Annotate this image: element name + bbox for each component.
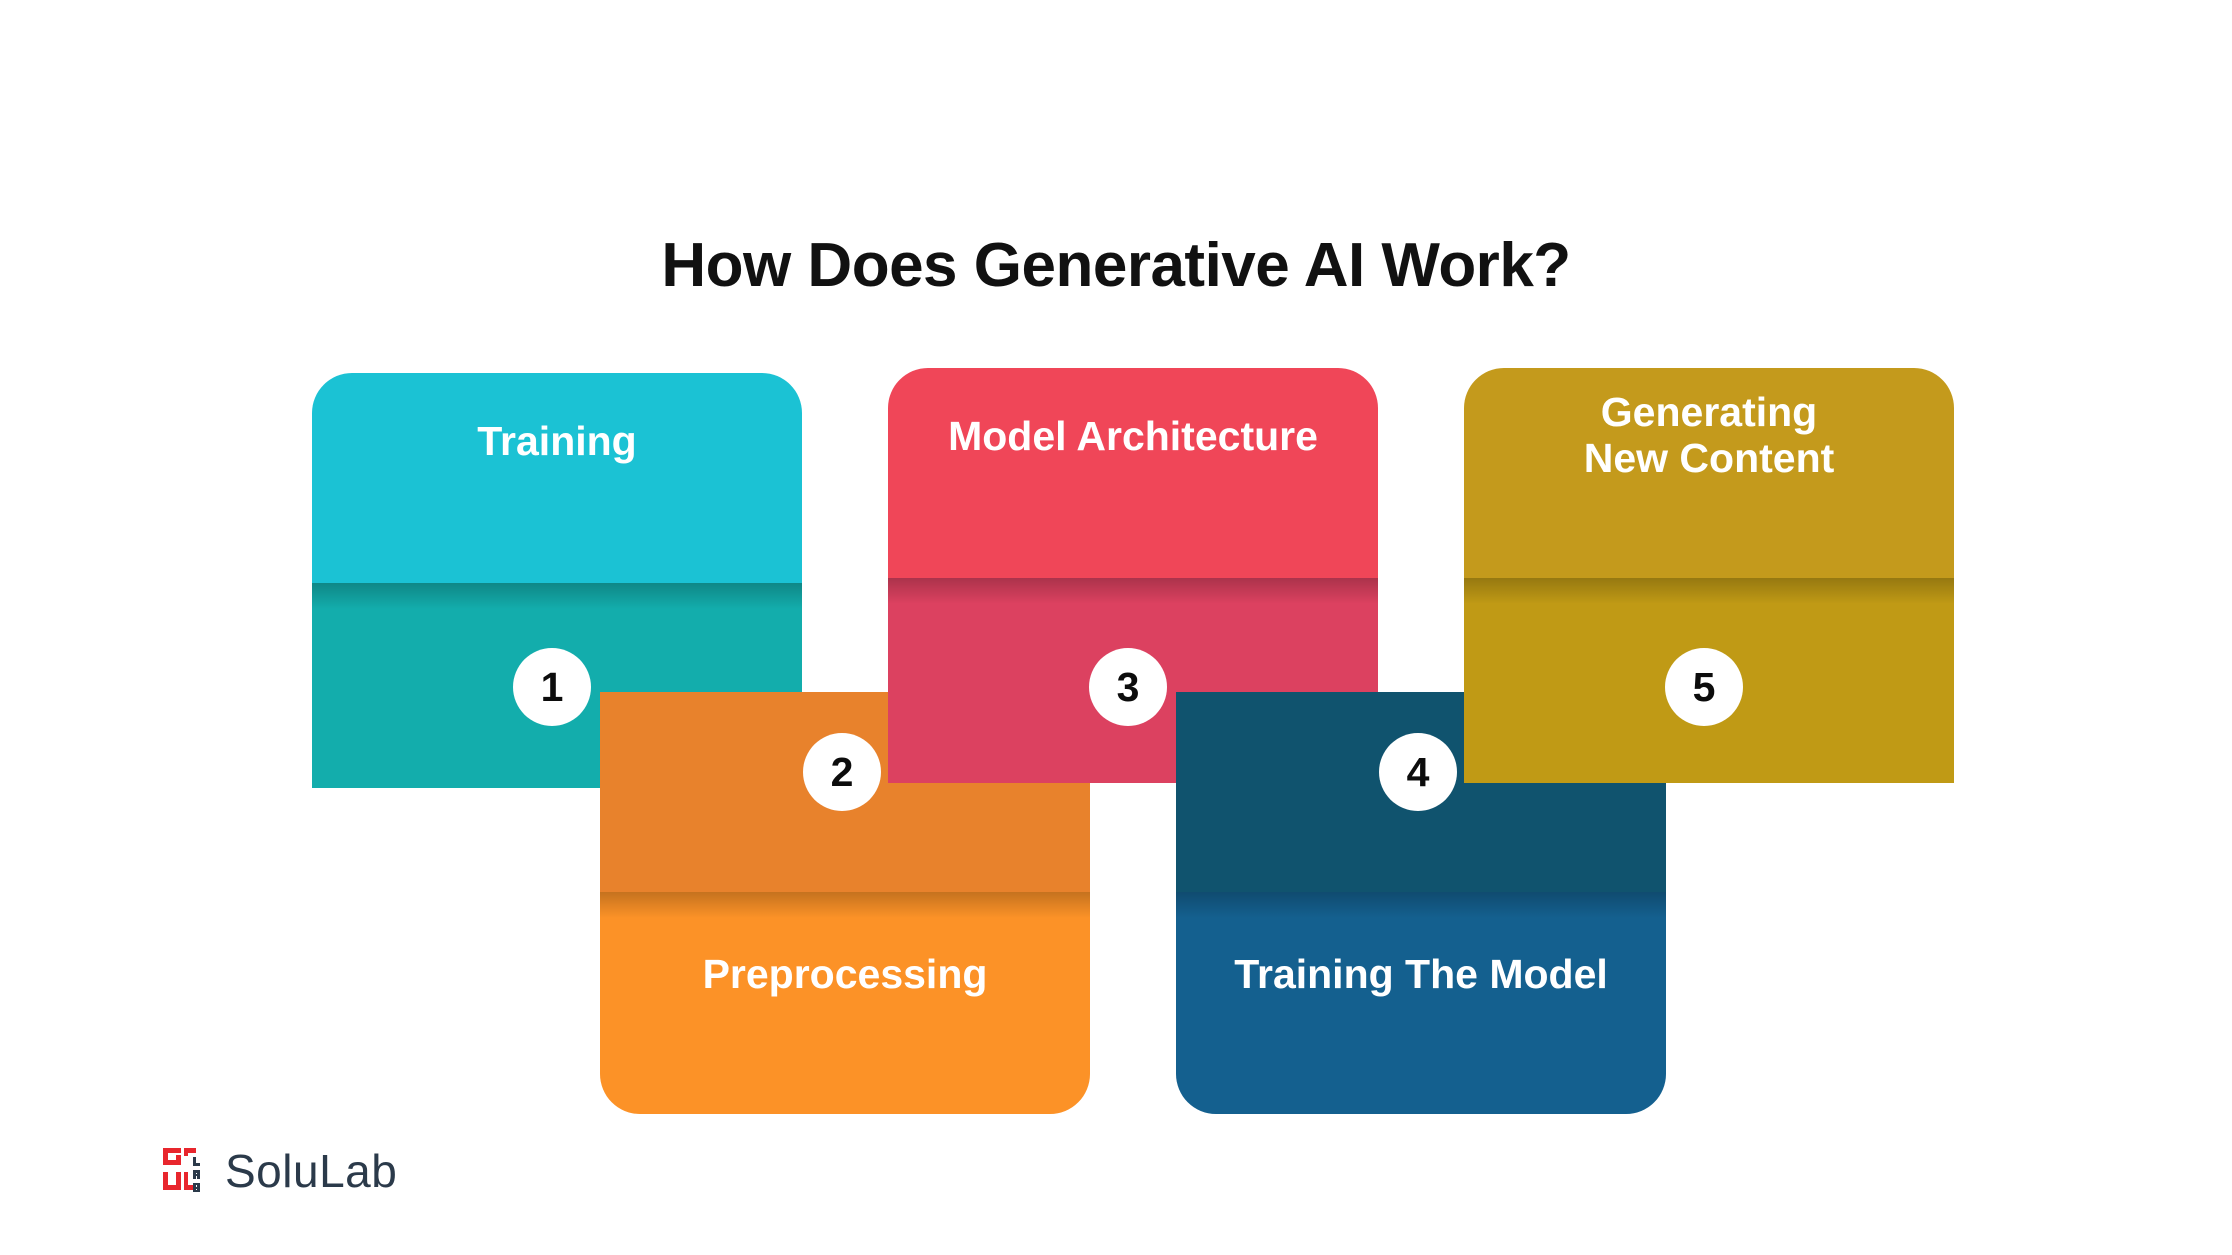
step-number-badge-3: 3 bbox=[1089, 648, 1167, 726]
solulab-mark-icon bbox=[163, 1146, 211, 1196]
step-number-badge-5: 5 bbox=[1665, 648, 1743, 726]
solulab-logo[interactable]: SoluLab bbox=[163, 1146, 397, 1196]
infographic-canvas: How Does Generative AI Work? Training 1 … bbox=[0, 0, 2232, 1255]
step-number-badge-2: 2 bbox=[803, 733, 881, 811]
step-card-2-label: Preprocessing bbox=[600, 952, 1090, 998]
step-card-1-head: Training bbox=[312, 373, 802, 583]
step-number-badge-4: 4 bbox=[1379, 733, 1457, 811]
step-card-4-head: Training The Model bbox=[1176, 892, 1666, 1114]
step-card-1-label: Training bbox=[312, 419, 802, 465]
step-card-3-head: Model Architecture bbox=[888, 368, 1378, 578]
step-card-3-label: Model Architecture bbox=[888, 414, 1378, 460]
step-card-2-head: Preprocessing bbox=[600, 892, 1090, 1114]
page-title: How Does Generative AI Work? bbox=[0, 232, 2232, 300]
step-number-badge-1: 1 bbox=[513, 648, 591, 726]
solulab-wordmark: SoluLab bbox=[225, 1148, 397, 1194]
step-card-5-head: Generating New Content bbox=[1464, 368, 1954, 578]
step-card-4-label: Training The Model bbox=[1176, 952, 1666, 998]
step-card-5-label: Generating New Content bbox=[1464, 390, 1954, 482]
